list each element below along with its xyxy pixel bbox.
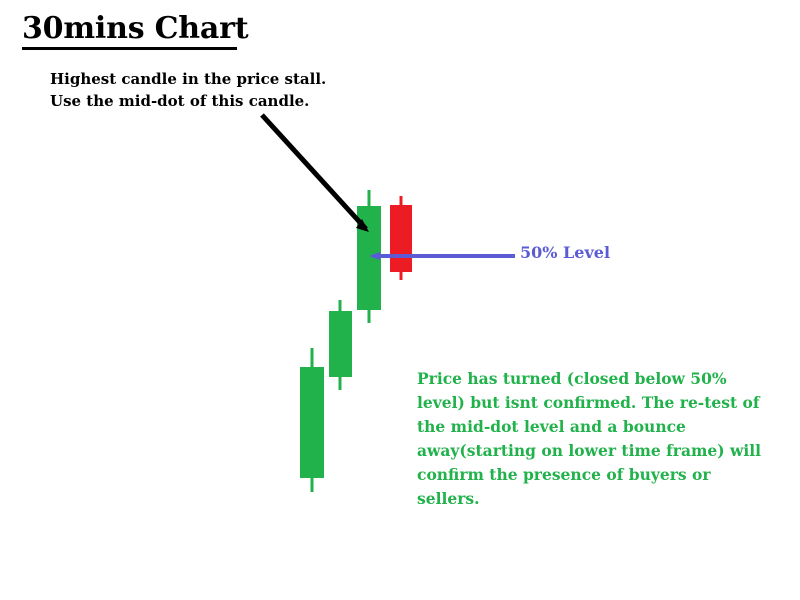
pointer-line <box>262 115 366 229</box>
candle-body <box>390 205 412 272</box>
fifty-percent-level-label: 50% Level <box>520 243 610 263</box>
chart-canvas: 30mins Chart Highest candle in the price… <box>0 0 800 600</box>
candlestick-1 <box>300 348 324 492</box>
candle-body <box>329 311 352 377</box>
candle-body <box>300 367 324 478</box>
commentary-text: Price has turned (closed below 50% level… <box>417 367 762 511</box>
annotation-pointer-arrow <box>262 115 369 232</box>
candlestick-2 <box>329 300 352 390</box>
candlestick-4-bearish <box>390 196 412 280</box>
